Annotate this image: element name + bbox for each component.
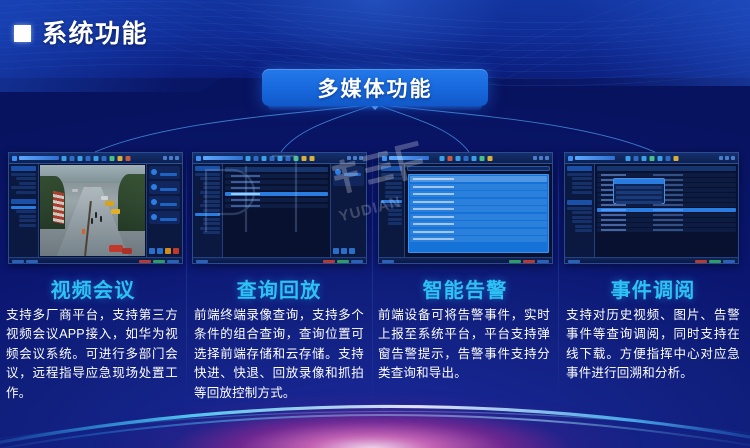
table-row[interactable] xyxy=(225,174,328,178)
list-item[interactable] xyxy=(410,176,547,182)
table-header xyxy=(225,167,328,172)
screenshot-panel-query-playback[interactable] xyxy=(192,152,367,264)
panel-statusbar xyxy=(379,257,552,264)
table-row[interactable] xyxy=(597,173,736,177)
list-item[interactable] xyxy=(410,229,547,235)
section-banner: 多媒体功能 xyxy=(262,69,488,106)
list-item[interactable] xyxy=(410,214,547,220)
dialog-titlebar xyxy=(614,179,664,184)
page-title: 系统功能 xyxy=(14,14,148,50)
recording-results-table[interactable] xyxy=(223,164,330,257)
table-row[interactable] xyxy=(225,198,328,202)
search-input[interactable] xyxy=(407,166,550,171)
table-row[interactable] xyxy=(597,208,736,212)
screenshot-panel-event-review[interactable] xyxy=(564,152,739,264)
feature-description: 前端设备可将告警事件，实时上报至系统平台，平台支持弹窗告警提示，告警事件支持分类… xyxy=(376,306,554,384)
panel-statusbar xyxy=(565,257,738,264)
list-item[interactable] xyxy=(410,184,547,190)
feature-description: 支持多厂商平台，支持第三方视频会议APP接入，如华为视频会议系统。可进行多部门会… xyxy=(4,306,182,403)
panel-statusbar xyxy=(9,257,182,264)
table-row[interactable] xyxy=(225,186,328,190)
table-row[interactable] xyxy=(225,180,328,184)
feature-title: 智能告警 xyxy=(376,274,554,303)
feature-title: 事件调阅 xyxy=(562,274,744,303)
device-tree-sidebar[interactable] xyxy=(193,164,223,257)
device-tree-sidebar[interactable] xyxy=(9,164,39,257)
screenshot-panel-smart-alarm[interactable] xyxy=(378,152,553,264)
preview-panel[interactable] xyxy=(330,164,366,257)
video-view[interactable] xyxy=(39,164,146,257)
feature-title: 查询回放 xyxy=(190,274,368,303)
screenshot-panel-video-conference[interactable] xyxy=(8,152,183,264)
alarm-list[interactable] xyxy=(408,174,549,253)
event-data-table[interactable] xyxy=(595,164,738,257)
table-row[interactable] xyxy=(225,204,328,208)
alarm-list-view[interactable] xyxy=(405,164,552,257)
feature-description: 支持对历史视频、图片、告警事件等查询调阅，同时支持在线下载。方便指挥中心对应急事… xyxy=(562,306,744,384)
list-item[interactable] xyxy=(410,191,547,197)
flood-road-photo xyxy=(40,165,145,256)
list-item[interactable] xyxy=(410,206,547,212)
section-banner-label: 多媒体功能 xyxy=(318,73,433,103)
playback-control-buttons[interactable] xyxy=(333,248,364,255)
table-row[interactable] xyxy=(225,192,328,196)
feature-title: 视频会议 xyxy=(4,274,182,303)
list-item[interactable] xyxy=(410,236,547,242)
feature-description: 前端终端录像查询，支持多个条件的组合查询，查询位置可选择前端存储和云存储。支持快… xyxy=(190,306,368,403)
table-row[interactable] xyxy=(597,218,736,222)
alarm-tree-sidebar[interactable] xyxy=(379,164,405,257)
participant-panel[interactable] xyxy=(146,164,182,257)
table-header xyxy=(597,166,736,171)
square-bullet-icon xyxy=(14,25,31,42)
category-tree-sidebar[interactable] xyxy=(565,164,595,257)
detail-dialog[interactable] xyxy=(613,178,665,204)
panel-statusbar xyxy=(193,257,366,264)
list-item[interactable] xyxy=(410,221,547,227)
table-row[interactable] xyxy=(597,223,736,227)
table-row[interactable] xyxy=(597,213,736,217)
list-item[interactable] xyxy=(410,199,547,205)
call-control-buttons[interactable] xyxy=(149,248,180,255)
table-row[interactable] xyxy=(597,228,736,232)
page-title-label: 系统功能 xyxy=(42,14,148,50)
